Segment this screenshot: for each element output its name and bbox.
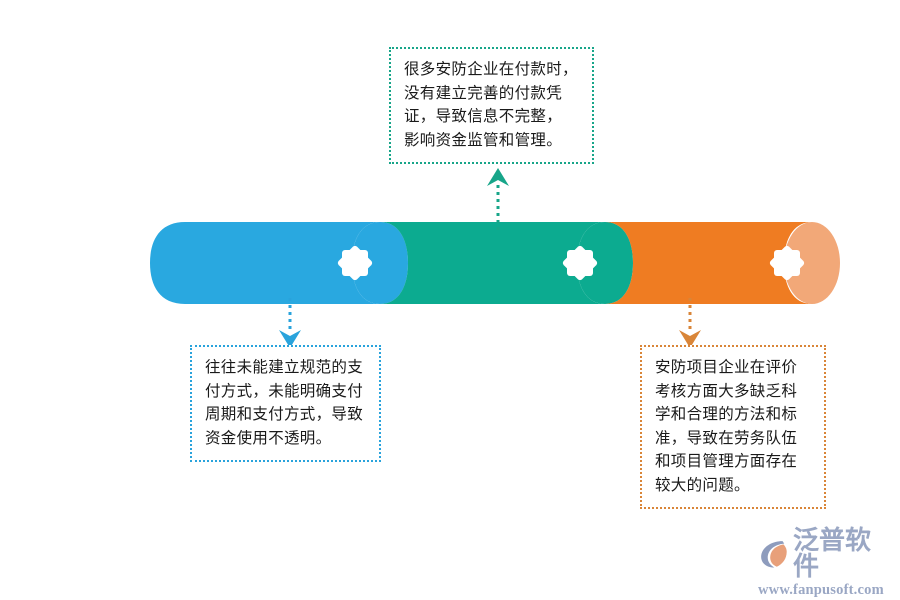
watermark-brand-row: 泛普软件 [757, 527, 893, 579]
pipeline-segment-blue [150, 222, 408, 304]
callout-box-payment-voucher: 很多安防企业在付款时， 没有建立完善的付款凭 证，导致信息不完整， 影响资金监管… [389, 47, 594, 164]
callout-box-payment-method: 往往未能建立规范的支 付方式，未能明确支付 周期和支付方式，导致 资金使用不透明… [190, 345, 381, 462]
fanpu-logo-icon [757, 537, 790, 570]
arrowhead-up-icon [487, 168, 509, 186]
connector-bottom-right [670, 298, 710, 352]
infographic-canvas: 很多安防企业在付款时， 没有建立完善的付款凭 证，导致信息不完整， 影响资金监管… [0, 0, 900, 600]
pipeline-cylinder [150, 222, 840, 304]
watermark-logo: 泛普软件 www.fanpusoft.com [757, 536, 893, 590]
watermark-brand-text: 泛普软件 [793, 527, 893, 579]
callout-box-evaluation: 安防项目企业在评价 考核方面大多缺乏科 学和合理的方法和标 准，导致在劳务队伍 … [640, 345, 826, 509]
pipeline-segment-orange [605, 222, 840, 304]
connector-top [478, 160, 518, 230]
watermark-url-text: www.fanpusoft.com [758, 582, 884, 599]
pipeline-segment-green [380, 222, 633, 304]
connector-bottom-left [270, 298, 310, 352]
